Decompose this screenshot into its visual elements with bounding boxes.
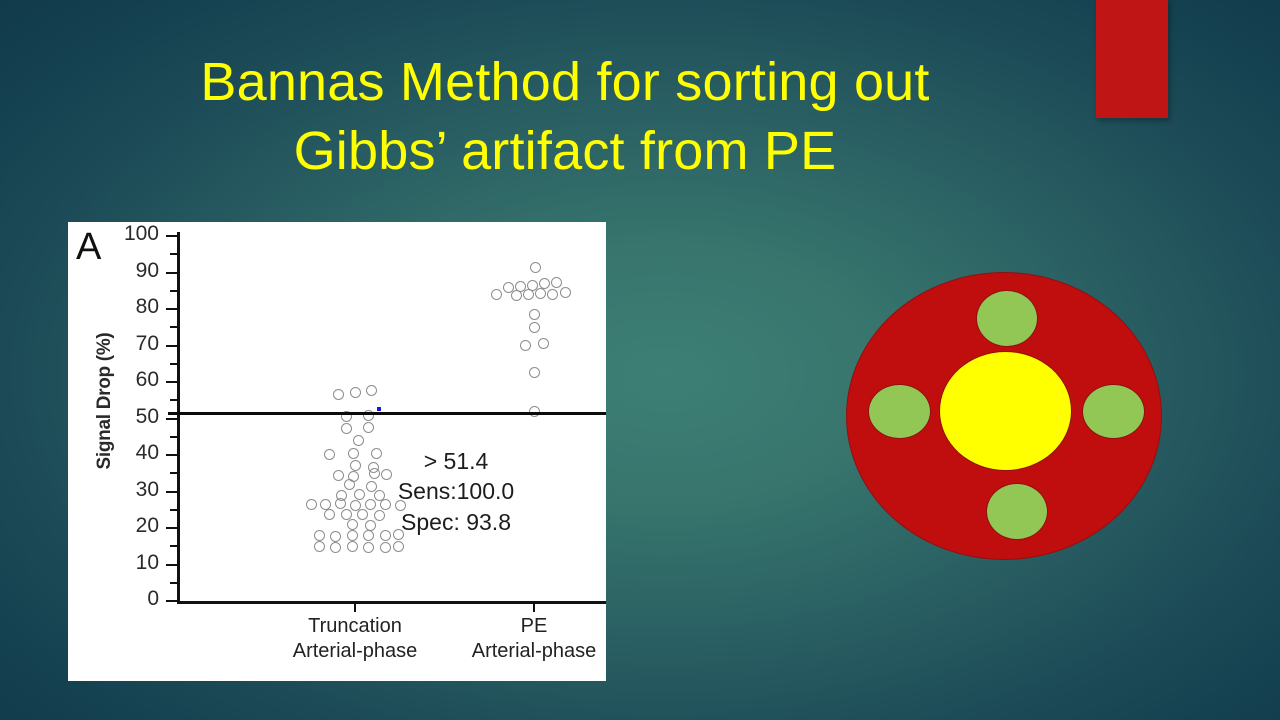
scatter-point	[314, 541, 325, 552]
scatter-point	[380, 542, 391, 553]
scatter-point	[491, 289, 502, 300]
y-tick-label-60: 60	[99, 368, 159, 392]
y-tick-0	[166, 600, 177, 602]
y-minor-tick-75	[170, 326, 177, 328]
y-tick-70	[166, 345, 177, 347]
scatter-point	[547, 289, 558, 300]
figure-panel: A Signal Drop (%) 0102030405060708090100…	[68, 222, 606, 681]
scatter-point	[520, 340, 531, 351]
y-tick-label-90: 90	[99, 259, 159, 283]
y-tick-100	[166, 235, 177, 237]
plot-area: 0102030405060708090100 Truncation Arteri…	[68, 222, 606, 681]
y-minor-tick-15	[170, 545, 177, 547]
y-tick-label-40: 40	[99, 441, 159, 465]
scatter-point	[363, 422, 374, 433]
y-tick-label-30: 30	[99, 478, 159, 502]
y-tick-label-20: 20	[99, 514, 159, 538]
scatter-point	[560, 287, 571, 298]
scatter-point	[306, 499, 317, 510]
scatter-point	[333, 389, 344, 400]
y-tick-30	[166, 491, 177, 493]
y-tick-10	[166, 564, 177, 566]
scatter-point	[366, 385, 377, 396]
ring-diagram	[846, 272, 1162, 560]
ring-lobe-left	[868, 384, 931, 439]
x-axis-label-pe: PE Arterial-phase	[419, 614, 606, 664]
scatter-point	[350, 387, 361, 398]
y-tick-label-100: 100	[99, 222, 159, 246]
y-minor-tick-5	[170, 582, 177, 584]
x-axis-line	[177, 601, 606, 604]
y-tick-80	[166, 308, 177, 310]
scatter-point	[347, 541, 358, 552]
y-tick-label-50: 50	[99, 405, 159, 429]
threshold-marker-dot	[377, 407, 381, 411]
scatter-point	[314, 530, 325, 541]
y-tick-label-80: 80	[99, 295, 159, 319]
y-tick-20	[166, 527, 177, 529]
threshold-annotation: > 51.4 Sens:100.0 Spec: 93.8	[336, 446, 576, 537]
scatter-point	[353, 435, 364, 446]
scatter-point	[341, 423, 352, 434]
scatter-point	[530, 262, 541, 273]
y-minor-tick-25	[170, 509, 177, 511]
y-minor-tick-95	[170, 253, 177, 255]
ring-lobe-top	[976, 290, 1038, 347]
scatter-point	[324, 449, 335, 460]
y-minor-tick-35	[170, 472, 177, 474]
scatter-point	[363, 542, 374, 553]
x-axis-tick-truncation	[354, 603, 356, 612]
y-tick-40	[166, 454, 177, 456]
page-title: Bannas Method for sorting out Gibbs’ art…	[60, 48, 1070, 186]
scatter-point	[324, 509, 335, 520]
scatter-point	[538, 338, 549, 349]
y-minor-tick-85	[170, 290, 177, 292]
y-tick-50	[166, 418, 177, 420]
scatter-point	[529, 367, 540, 378]
y-axis-line	[177, 232, 180, 604]
y-tick-label-10: 10	[99, 551, 159, 575]
scatter-point	[511, 290, 522, 301]
y-tick-60	[166, 381, 177, 383]
scatter-point	[330, 542, 341, 553]
y-minor-tick-45	[170, 436, 177, 438]
y-minor-tick-55	[170, 399, 177, 401]
scatter-point	[529, 322, 540, 333]
ring-lobe-right	[1082, 384, 1145, 439]
ring-center-circle	[939, 351, 1072, 471]
y-tick-label-70: 70	[99, 332, 159, 356]
slide-canvas: Bannas Method for sorting out Gibbs’ art…	[0, 0, 1280, 720]
threshold-line	[168, 412, 606, 415]
scatter-point	[551, 277, 562, 288]
accent-bar	[1096, 0, 1168, 118]
y-minor-tick-65	[170, 363, 177, 365]
y-tick-90	[166, 272, 177, 274]
scatter-point	[529, 309, 540, 320]
x-axis-tick-pe	[533, 603, 535, 612]
scatter-point	[523, 289, 534, 300]
ring-lobe-bottom	[986, 483, 1048, 540]
scatter-point	[535, 288, 546, 299]
y-tick-label-0: 0	[99, 587, 159, 611]
scatter-point	[393, 541, 404, 552]
